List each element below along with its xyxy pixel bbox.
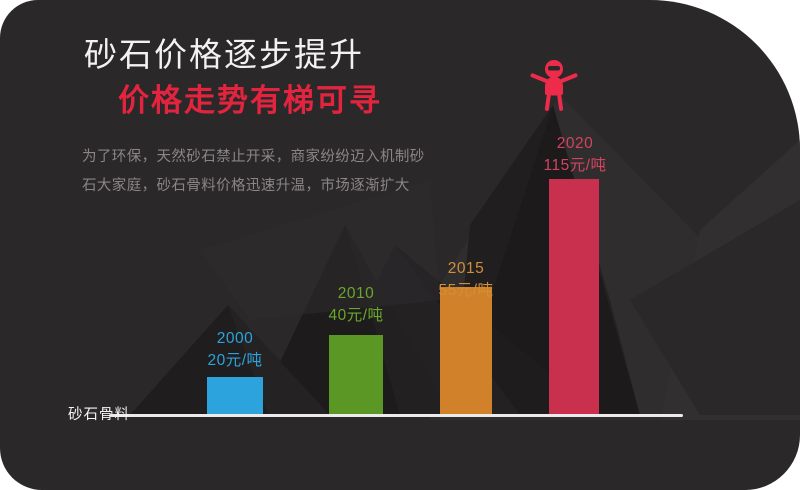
- axis-label: 砂石骨料: [68, 403, 130, 424]
- bar-value-2010: 40元/吨: [314, 305, 398, 327]
- bar-chart: 2000 20元/吨 2010 40元/吨 2015 55元/吨 2020 11…: [0, 0, 800, 415]
- bar-value-2015: 55元/吨: [424, 280, 508, 302]
- bar-2020[interactable]: [549, 179, 599, 415]
- bar-value-2000: 20元/吨: [193, 350, 277, 372]
- dark-card: 砂石价格逐步提升 价格走势有梯可寻 为了环保，天然砂石禁止开采，商家纷纷迈入机制…: [0, 0, 800, 490]
- bar-2015[interactable]: [440, 287, 492, 415]
- bar-label-2010: 2010 40元/吨: [314, 283, 398, 328]
- infographic-stage: 砂石价格逐步提升 价格走势有梯可寻 为了环保，天然砂石禁止开采，商家纷纷迈入机制…: [0, 0, 800, 490]
- bar-year-2000: 2000: [193, 328, 277, 350]
- bar-label-2000: 2000 20元/吨: [193, 328, 277, 373]
- bar-2010[interactable]: [329, 335, 383, 415]
- bar-year-2015: 2015: [424, 258, 508, 280]
- baseline-axis: [110, 414, 683, 417]
- bar-value-2020: 115元/吨: [529, 155, 621, 177]
- bar-year-2010: 2010: [314, 283, 398, 305]
- bar-label-2015: 2015 55元/吨: [424, 258, 508, 303]
- bar-2000[interactable]: [207, 377, 263, 415]
- bar-label-2020: 2020 115元/吨: [529, 133, 621, 178]
- bar-year-2020: 2020: [529, 133, 621, 155]
